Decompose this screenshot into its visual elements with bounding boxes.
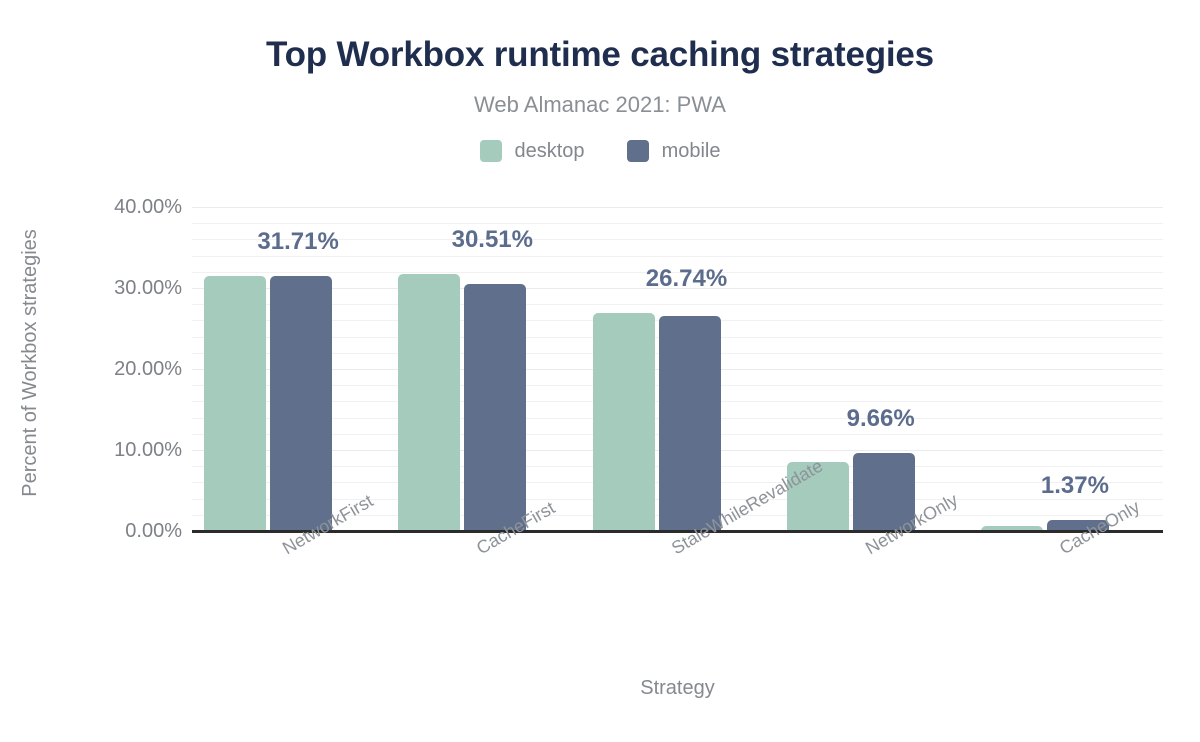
legend-item-mobile[interactable]: mobile bbox=[627, 140, 721, 162]
value-label-NetworkFirst: 31.71% bbox=[214, 228, 382, 256]
x-tick-label-NetworkFirst: NetworkFirst bbox=[279, 541, 290, 559]
bar-mobile-CacheFirst[interactable] bbox=[464, 284, 526, 531]
bar-mobile-StaleWhileRevalidate[interactable] bbox=[659, 316, 721, 531]
y-axis-title: Percent of Workbox strategies bbox=[18, 203, 42, 523]
chart-title: Top Workbox runtime caching strategies bbox=[0, 33, 1200, 77]
bar-desktop-StaleWhileRevalidate[interactable] bbox=[593, 313, 655, 531]
x-axis-title: Strategy bbox=[192, 676, 1163, 700]
y-tick-label: 40.00% bbox=[72, 197, 182, 217]
y-tick-label: 0.00% bbox=[72, 521, 182, 541]
bar-mobile-NetworkFirst[interactable] bbox=[270, 276, 332, 531]
legend-label-mobile: mobile bbox=[662, 140, 721, 162]
value-label-CacheFirst: 30.51% bbox=[408, 226, 576, 254]
value-label-CacheOnly: 1.37% bbox=[991, 472, 1159, 500]
y-tick-label: 10.00% bbox=[72, 440, 182, 460]
legend-swatch-mobile bbox=[627, 140, 649, 162]
legend-item-desktop[interactable]: desktop bbox=[480, 140, 585, 162]
gridline bbox=[192, 223, 1163, 224]
y-axis-tick-labels: 0.00%10.00%20.00%30.00%40.00% bbox=[62, 207, 182, 531]
x-tick-label-NetworkOnly: NetworkOnly bbox=[862, 541, 873, 559]
value-label-StaleWhileRevalidate: 26.74% bbox=[603, 265, 771, 293]
bar-desktop-CacheFirst[interactable] bbox=[398, 274, 460, 531]
x-tick-label-CacheOnly: CacheOnly bbox=[1056, 541, 1067, 559]
chart-legend: desktopmobile bbox=[0, 140, 1200, 162]
x-axis-tick-labels: NetworkFirstCacheFirstStaleWhileRevalida… bbox=[192, 541, 1163, 651]
gridline bbox=[192, 207, 1163, 208]
y-tick-label: 20.00% bbox=[72, 359, 182, 379]
value-label-NetworkOnly: 9.66% bbox=[797, 405, 965, 433]
y-tick-label: 30.00% bbox=[72, 278, 182, 298]
plot-area: 31.71%30.51%26.74%9.66%1.37% bbox=[192, 207, 1163, 531]
bar-chart: Top Workbox runtime caching strategies W… bbox=[0, 0, 1200, 742]
legend-label-desktop: desktop bbox=[515, 140, 585, 162]
gridline bbox=[192, 304, 1163, 305]
x-tick-label-CacheFirst: CacheFirst bbox=[473, 541, 484, 559]
legend-swatch-desktop bbox=[480, 140, 502, 162]
x-axis-baseline bbox=[192, 530, 1163, 533]
x-tick-label-StaleWhileRevalidate: StaleWhileRevalidate bbox=[668, 541, 679, 559]
bar-desktop-NetworkFirst[interactable] bbox=[204, 276, 266, 531]
chart-subtitle: Web Almanac 2021: PWA bbox=[0, 90, 1200, 120]
